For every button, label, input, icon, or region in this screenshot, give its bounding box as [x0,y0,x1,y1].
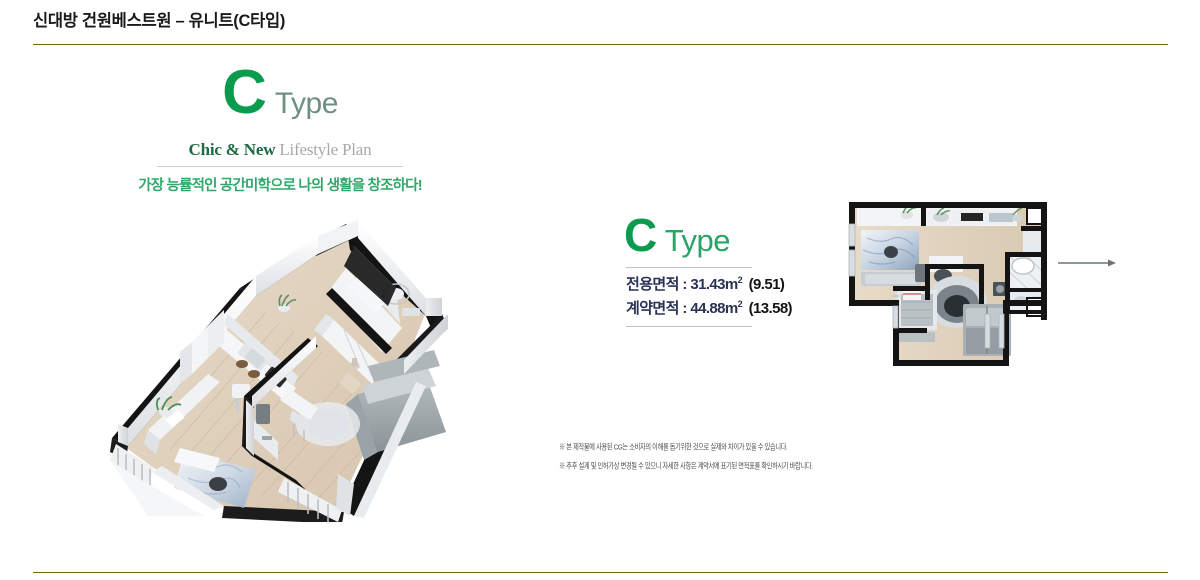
entrance-direction-arrow-icon [1058,255,1118,265]
area-unit: m [725,300,738,317]
area-row-exclusive: 전용면적 : 31.43m2 (9.51) [626,273,850,294]
info-divider-bottom [626,326,752,327]
header-divider [33,44,1168,45]
area-unit: m [725,276,738,293]
footnote-list: ※ 본 제작물에 사용된 CG는 소비자의 이해를 돕기위한 것으로 실제와 차… [559,443,979,482]
area-label: 계약면적 : [626,300,687,317]
footer-divider [33,572,1168,573]
area-row-contract: 계약면적 : 44.88m2 (13.58) [626,297,850,318]
area-pyeong: (9.51) [749,276,785,293]
unit-3d-isometric-render [96,216,468,522]
footnote-item: ※ 추후 설계 및 인허가상 변경될 수 있으니 자세한 사항은 계약서에 표기… [559,462,979,471]
hero-slogan-light: Lifestyle Plan [279,140,371,159]
hero-tagline: 가장 능률적인 공간미학으로 나의 생활을 창조하다! [125,174,435,195]
hero-slogan-strong: Chic & New [189,140,276,159]
area-list: 전용면적 : 31.43m2 (9.51) 계약면적 : 44.88m2 (13… [620,268,850,318]
area-value: 44.88 [690,300,725,317]
hero-type-heading: C Type [125,62,435,124]
hero-slogan: Chic & New Lifestyle Plan [125,140,435,160]
hero-divider [157,166,403,167]
area-value: 31.43 [690,276,725,293]
hero-type-word: Type [275,89,338,119]
unit-area-info-block: C Type 전용면적 : 31.43m2 (9.51) 계약면적 : 44.8… [620,212,850,327]
page-title: 신대방 건원베스트원 – 유니트(C타입) [33,7,285,31]
area-pyeong: (13.58) [749,300,792,317]
info-type-letter: C [624,212,656,258]
area-unit-exponent: 2 [738,275,742,285]
hero-type-block: C Type Chic & New Lifestyle Plan 가장 능률적인… [125,62,435,195]
hero-type-letter: C [222,62,265,124]
footnote-item: ※ 본 제작물에 사용된 CG는 소비자의 이해를 돕기위한 것으로 실제와 차… [559,443,979,452]
unit-floorplan-topview [845,198,1075,373]
area-label: 전용면적 : [626,276,687,293]
info-type-heading: C Type [620,212,850,258]
area-unit-exponent: 2 [738,299,742,309]
info-type-word: Type [665,225,730,256]
